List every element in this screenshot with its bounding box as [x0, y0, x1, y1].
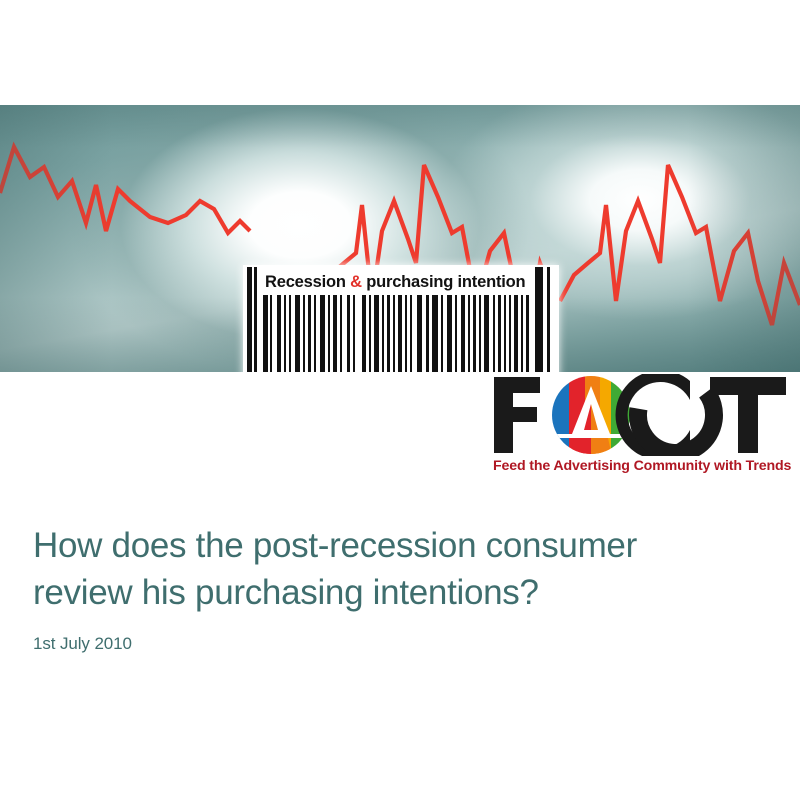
barcode-label-ampersand: & [350, 273, 362, 291]
hero-banner: Recession & purchasing intention [0, 105, 800, 372]
barcode-graphic: Recession & purchasing intention [243, 265, 559, 372]
barcode-label-suffix: purchasing intention [362, 273, 526, 291]
logo-letter-f [494, 377, 540, 453]
barcode-label: Recession & purchasing intention [265, 271, 539, 293]
fact-logo-mark [492, 374, 788, 456]
barcode-label-prefix: Recession [265, 273, 350, 291]
page-title: How does the post-recession consumer rev… [33, 522, 753, 616]
page-date: 1st July 2010 [33, 634, 753, 654]
fact-logo: Feed the Advertising Community with Tren… [492, 374, 788, 478]
fact-tagline: Feed the Advertising Community with Tren… [493, 458, 789, 474]
title-block: How does the post-recession consumer rev… [33, 522, 753, 654]
